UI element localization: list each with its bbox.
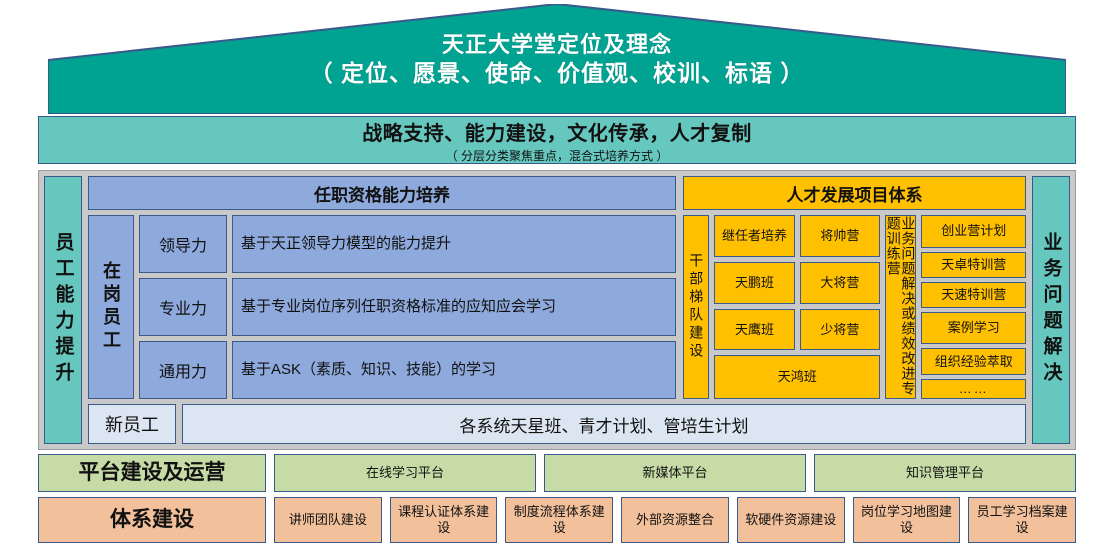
capability-description[interactable]: 基于专业岗位序列任职资格标准的应知应会学习	[232, 278, 676, 336]
right-column-label: 业务问题解决	[1042, 232, 1061, 388]
diagram-root: 天正大学堂定位及理念 （ 定位、愿景、使命、价值观、校训、标语 ） 战略支持、能…	[0, 0, 1114, 551]
platform-item[interactable]: 在线学习平台	[274, 454, 536, 492]
qualification-panel-title: 任职资格能力培养	[88, 176, 676, 210]
strategy-band-sub: （ 分层分类聚焦重点，混合式培养方式 ）	[446, 147, 669, 164]
capability-column: 领导力 专业力 通用力	[139, 215, 227, 399]
new-employee-label[interactable]: 新员工	[88, 404, 176, 444]
cadre-program-item[interactable]: 天鹏班	[714, 262, 794, 304]
main-frame: 员工能力提升 任职资格能力培养 在岗员工 领导力 专业力 通用力	[38, 170, 1076, 450]
camp-program-item[interactable]: 组织经验萃取	[921, 348, 1026, 376]
capability-description-column: 基于天正领导力模型的能力提升 基于专业岗位序列任职资格标准的应知应会学习 基于A…	[232, 215, 676, 399]
roof-shape: 天正大学堂定位及理念 （ 定位、愿景、使命、价值观、校训、标语 ）	[48, 4, 1066, 114]
system-item[interactable]: 员工学习档案建设	[968, 497, 1076, 543]
roof-title-line2: （ 定位、愿景、使命、价值观、校训、标语 ）	[48, 59, 1066, 87]
camp-program-item[interactable]: 案例学习	[921, 312, 1026, 343]
talent-development-panel: 人才发展项目体系 干部梯队建设 继任者培养 将帅营 天鹏班	[683, 176, 1026, 399]
cadre-program-item[interactable]: 继任者培养	[714, 215, 794, 257]
platform-row: 平台建设及运营 在线学习平台 新媒体平台 知识管理平台	[38, 454, 1076, 492]
cadre-program-grid: 继任者培养 将帅营 天鹏班 大将营 天鹰班 少将营 天鸿班	[714, 215, 880, 399]
cadre-program-item-wide[interactable]: 天鸿班	[714, 355, 880, 399]
system-item[interactable]: 软硬件资源建设	[737, 497, 845, 543]
system-row: 体系建设 讲师团队建设 课程认证体系建设 制度流程体系建设 外部资源整合 软硬件…	[38, 497, 1076, 543]
camp-program-item-ellipsis[interactable]: ……	[921, 379, 1026, 399]
camp-program-column: 创业营计划 天卓特训营 天速特训营 案例学习 组织经验萃取 ……	[921, 215, 1026, 399]
on-job-employee-label: 在岗员工	[102, 261, 120, 353]
new-employee-description[interactable]: 各系统天星班、青才计划、管培生计划	[182, 404, 1026, 444]
system-item[interactable]: 课程认证体系建设	[390, 497, 498, 543]
capability-item[interactable]: 通用力	[139, 341, 227, 399]
left-column-label: 员工能力提升	[54, 232, 73, 388]
system-row-lead: 体系建设	[38, 497, 266, 543]
cadre-program-item[interactable]: 大将营	[800, 262, 880, 304]
roof-title-line1: 天正大学堂定位及理念	[48, 32, 1066, 59]
qualification-panel: 任职资格能力培养 在岗员工 领导力 专业力 通用力 基于天正领导力模型的能力提升	[88, 176, 676, 399]
capability-item[interactable]: 专业力	[139, 278, 227, 336]
business-problem-camp-label-box: 业务问题解决或绩效改进专题训练营	[885, 215, 916, 399]
system-item[interactable]: 讲师团队建设	[274, 497, 382, 543]
strategy-band-main: 战略支持、能力建设，文化传承，人才复制	[362, 117, 752, 146]
platform-item[interactable]: 新媒体平台	[544, 454, 806, 492]
system-item[interactable]: 外部资源整合	[621, 497, 729, 543]
strategy-band: 战略支持、能力建设，文化传承，人才复制 （ 分层分类聚焦重点，混合式培养方式 ）	[38, 116, 1076, 164]
cadre-echelon-label: 干部梯队建设	[689, 253, 703, 361]
camp-program-item[interactable]: 天卓特训营	[921, 252, 1026, 278]
left-column-employee-capability: 员工能力提升	[44, 176, 82, 444]
cadre-program-item[interactable]: 天鹰班	[714, 309, 794, 351]
cadre-program-row: 天鹰班 少将营	[714, 309, 880, 351]
capability-description[interactable]: 基于ASK（素质、知识、技能）的学习	[232, 341, 676, 399]
roof-title-group: 天正大学堂定位及理念 （ 定位、愿景、使命、价值观、校训、标语 ）	[48, 32, 1066, 87]
system-item[interactable]: 制度流程体系建设	[505, 497, 613, 543]
platform-item[interactable]: 知识管理平台	[814, 454, 1076, 492]
center-top-panels: 任职资格能力培养 在岗员工 领导力 专业力 通用力 基于天正领导力模型的能力提升	[88, 176, 1026, 399]
qualification-panel-body: 在岗员工 领导力 专业力 通用力 基于天正领导力模型的能力提升 基于专业岗位序列…	[88, 215, 676, 399]
cadre-program-item[interactable]: 将帅营	[800, 215, 880, 257]
right-column-business-problem: 业务问题解决	[1032, 176, 1070, 444]
talent-development-panel-body: 干部梯队建设 继任者培养 将帅营 天鹏班 大将营	[683, 215, 1026, 399]
business-problem-camp-label: 业务问题解决或绩效改进专题训练营	[886, 216, 915, 398]
cadre-echelon-label-box: 干部梯队建设	[683, 215, 709, 399]
new-employee-row: 新员工 各系统天星班、青才计划、管培生计划	[88, 404, 1026, 444]
platform-row-lead: 平台建设及运营	[38, 454, 266, 492]
capability-description[interactable]: 基于天正领导力模型的能力提升	[232, 215, 676, 273]
cadre-program-item[interactable]: 少将营	[800, 309, 880, 351]
center-area: 任职资格能力培养 在岗员工 领导力 专业力 通用力 基于天正领导力模型的能力提升	[88, 176, 1026, 444]
capability-item[interactable]: 领导力	[139, 215, 227, 273]
camp-program-item[interactable]: 天速特训营	[921, 282, 1026, 308]
cadre-program-row: 天鹏班 大将营	[714, 262, 880, 304]
cadre-program-row: 继任者培养 将帅营	[714, 215, 880, 257]
camp-program-item[interactable]: 创业营计划	[921, 215, 1026, 248]
system-item[interactable]: 岗位学习地图建设	[853, 497, 961, 543]
on-job-employee-label-box: 在岗员工	[88, 215, 134, 399]
talent-development-panel-title: 人才发展项目体系	[683, 176, 1026, 210]
